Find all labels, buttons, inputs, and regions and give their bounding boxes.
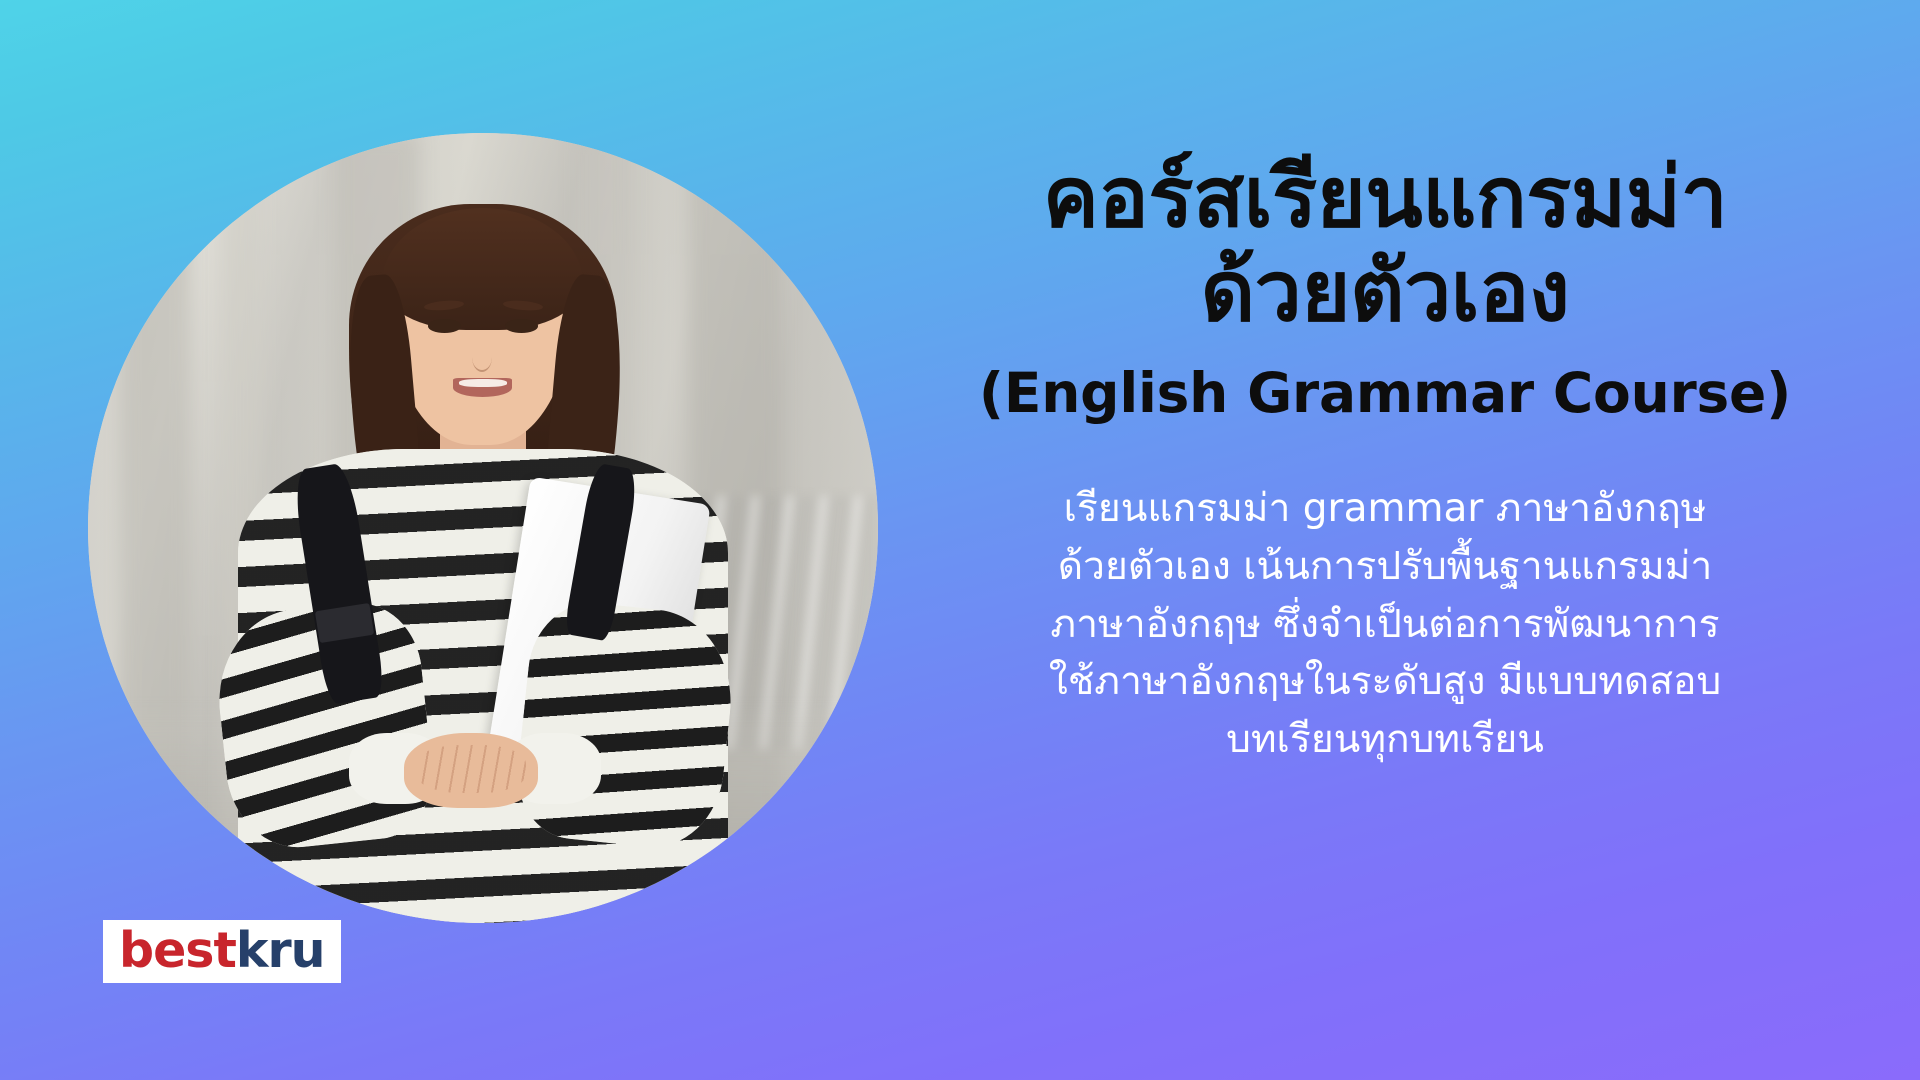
description-line: ภาษาอังกฤษ ซึ่งจำเป็นต่อการพัฒนาการ (940, 596, 1830, 654)
logo-text-best: best (119, 922, 236, 979)
arm-right (511, 597, 740, 854)
sleeve-stripes (511, 597, 740, 854)
eye-left (428, 319, 461, 332)
description-line: ใช้ภาษาอังกฤษในระดับสูง มีแบบทดสอบ (940, 653, 1830, 711)
description-line: ด้วยตัวเอง เน้นการปรับพื้นฐานแกรมม่า (940, 538, 1830, 596)
subtitle-english: (English Grammar Course) (920, 360, 1850, 426)
teeth (459, 379, 506, 387)
page-title: คอร์สเรียนแกรมม่า ด้วยตัวเอง (920, 150, 1850, 338)
fingers (416, 745, 527, 792)
course-banner: คอร์สเรียนแกรมม่า ด้วยตัวเอง (English Gr… (0, 0, 1920, 1080)
student-figure (88, 133, 878, 923)
text-column: คอร์สเรียนแกรมม่า ด้วยตัวเอง (English Gr… (920, 150, 1850, 769)
eye-right (505, 319, 538, 332)
description-line: บทเรียนทุกบทเรียน (940, 711, 1830, 769)
student-photo-circle (88, 133, 878, 923)
logo-text-kru: kru (236, 922, 325, 979)
bestkru-logo[interactable]: bestkru (103, 920, 341, 983)
title-line-2: ด้วยตัวเอง (1201, 242, 1570, 340)
description-line: เรียนแกรมม่า grammar ภาษาอังกฤษ (940, 480, 1830, 538)
title-line-1: คอร์สเรียนแกรมม่า (1043, 148, 1728, 246)
course-description: เรียนแกรมม่า grammar ภาษาอังกฤษ ด้วยตัวเ… (920, 480, 1850, 769)
